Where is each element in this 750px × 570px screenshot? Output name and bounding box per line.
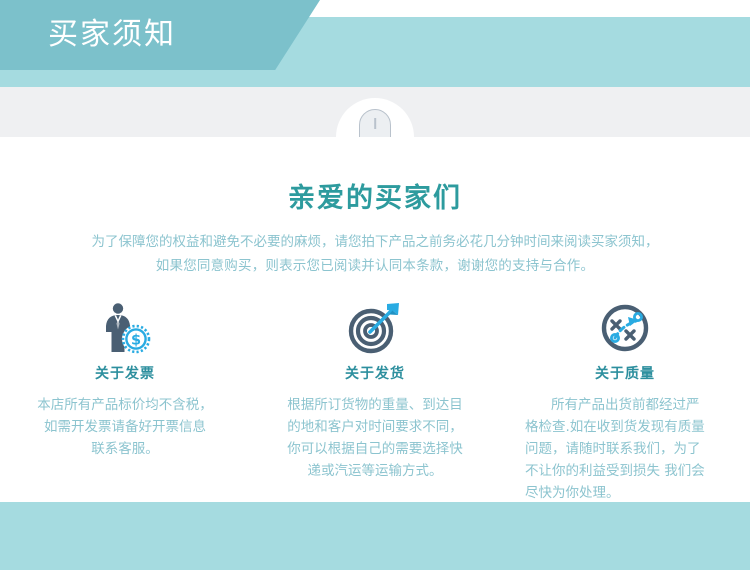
column-body: 根据所订货物的重量、到达目 的地和客户对时间要求不同， 你可以根据自己的需要选择… — [270, 394, 480, 482]
column-body-line: 联系客服。 — [20, 438, 230, 460]
strategy-tactics-icon — [593, 300, 657, 356]
footer-band — [0, 502, 750, 570]
column-body-line: 根据所订货物的重量、到达目 — [270, 394, 480, 416]
column-body-line: 格检查.如在收到货发现有质量 — [525, 416, 725, 438]
mouse-wheel — [374, 118, 376, 129]
column-invoice: $ 关于发票 本店所有产品标价均不含税， 如需开发票请备好开票信息 联系客服。 — [0, 300, 250, 504]
column-quality: 关于质量 所有产品出货前都经过严 格检查.如在收到货发现有质量 问题，请随时联系… — [500, 300, 750, 504]
page-title: 亲爱的买家们 — [0, 182, 750, 216]
column-body-line: 本店所有产品标价均不含税， — [20, 394, 230, 416]
column-heading: 关于质量 — [595, 365, 655, 383]
column-body-line: 不让你的利益受到损失 我们会 — [525, 460, 725, 482]
target-dart-icon — [343, 300, 407, 356]
main-content: 亲爱的买家们 为了保障您的权益和避免不必要的麻烦，请您拍下产品之前务必花几分钟时… — [0, 137, 750, 502]
column-body-line: 尽快为你处理。 — [525, 482, 725, 504]
column-body-line: 你可以根据自己的需要选择快 — [270, 438, 480, 460]
column-shipping: 关于发货 根据所订货物的重量、到达目 的地和客户对时间要求不同， 你可以根据自己… — [250, 300, 500, 504]
banner-title: 买家须知 — [48, 14, 176, 56]
intro-line: 如果您同意购买，则表示您已阅读并认同本条款，谢谢您的支持与合作。 — [57, 254, 693, 278]
gray-divider-band — [0, 87, 750, 137]
column-body-line: 递或汽运等运输方式。 — [270, 460, 480, 482]
column-heading: 关于发票 — [95, 365, 155, 383]
svg-text:$: $ — [131, 333, 141, 349]
column-heading: 关于发货 — [345, 365, 405, 383]
column-body: 所有产品出货前都经过严 格检查.如在收到货发现有质量 问题，请随时联系我们，为了… — [525, 394, 725, 504]
column-body-line: 如需开发票请备好开票信息 — [20, 416, 230, 438]
column-body: 本店所有产品标价均不含税， 如需开发票请备好开票信息 联系客服。 — [20, 394, 230, 460]
intro-line: 为了保障您的权益和避免不必要的麻烦，请您拍下产品之前务必花几分钟时间来阅读买家须… — [57, 230, 693, 254]
column-body-line: 问题，请随时联系我们，为了 — [525, 438, 725, 460]
column-body-line: 所有产品出货前都经过严 — [525, 394, 725, 416]
businessman-dollar-icon: $ — [93, 300, 157, 356]
intro-paragraph: 为了保障您的权益和避免不必要的麻烦，请您拍下产品之前务必花几分钟时间来阅读买家须… — [57, 230, 693, 278]
page-banner: 买家须知 — [0, 0, 750, 87]
info-columns: $ 关于发票 本店所有产品标价均不含税， 如需开发票请备好开票信息 联系客服。 … — [0, 300, 750, 504]
column-body-line: 的地和客户对时间要求不同， — [270, 416, 480, 438]
